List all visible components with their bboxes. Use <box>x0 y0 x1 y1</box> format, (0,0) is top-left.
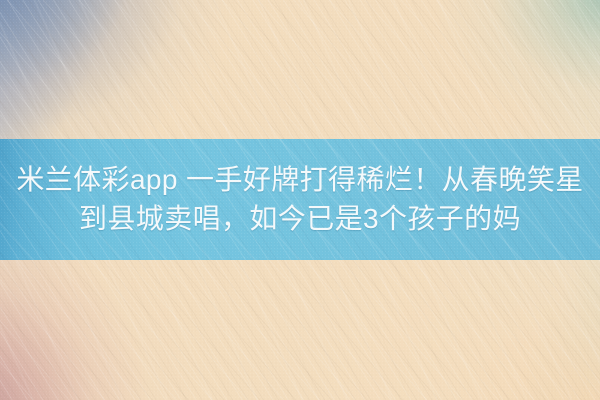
headline-text-block: 米兰体彩app 一手好牌打得稀烂！从春晚笑星 到县城卖唱，如今已是3个孩子的妈 <box>0 139 600 260</box>
article-thumbnail-banner: 米兰体彩app 一手好牌打得稀烂！从春晚笑星 到县城卖唱，如今已是3个孩子的妈 <box>0 0 600 400</box>
headline-line-1: 米兰体彩app 一手好牌打得稀烂！从春晚笑星 <box>16 163 583 197</box>
headline-line-2: 到县城卖唱，如今已是3个孩子的妈 <box>79 202 521 236</box>
